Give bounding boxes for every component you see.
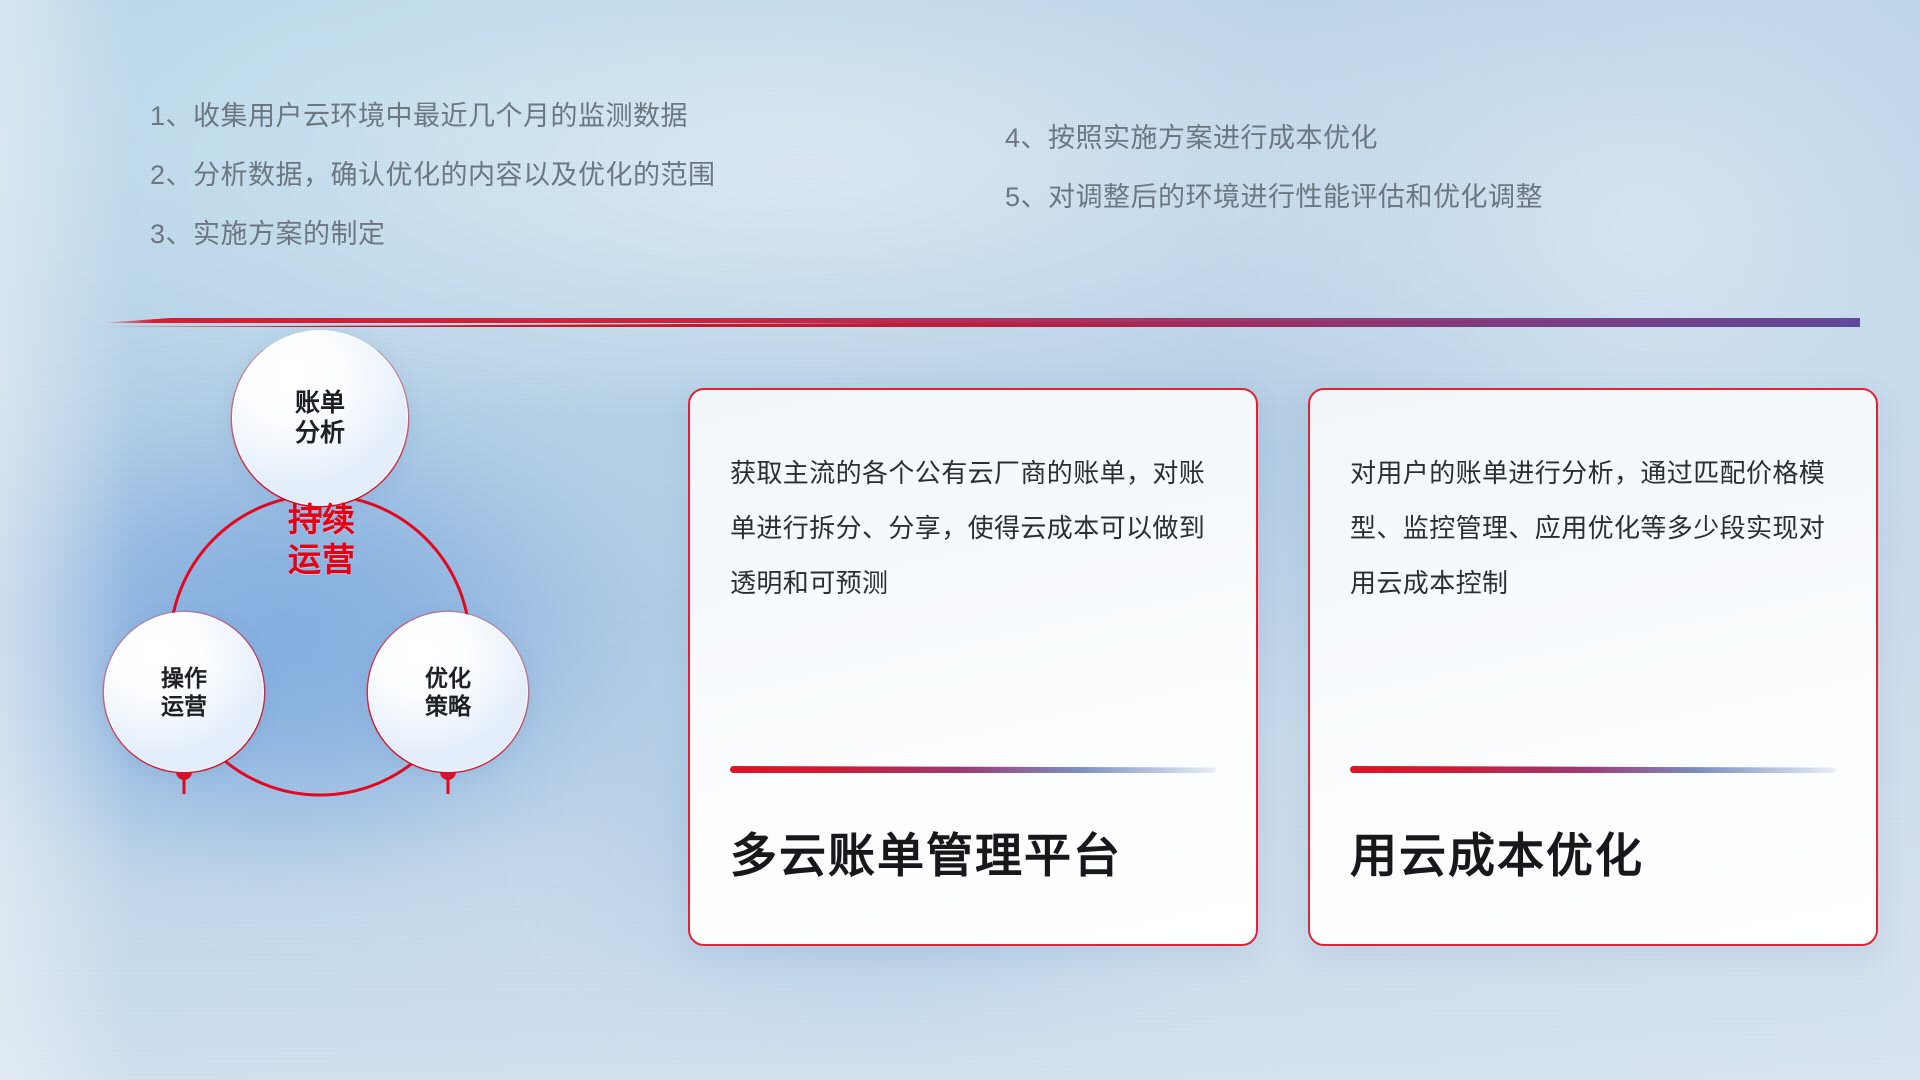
card-cloud-cost-optimization[interactable]: 对用户的账单进行分析，通过匹配价格模型、监控管理、应用优化等多少段实现对用云成本…: [1308, 388, 1878, 946]
bubble-label-line1: 操作: [161, 664, 207, 692]
step-item: 5、对调整后的环境进行性能评估和优化调整: [1005, 184, 1543, 211]
bubble-operations[interactable]: 操作 运营: [104, 612, 264, 772]
center-label-line2: 运营: [252, 540, 392, 580]
card-title: 多云账单管理平台: [730, 773, 1216, 944]
card-divider: [730, 766, 1216, 773]
step-item: 1、收集用户云环境中最近几个月的监测数据: [150, 103, 716, 130]
bubble-bill-analysis[interactable]: 账单 分析: [232, 330, 408, 506]
center-label-line1: 持续: [252, 500, 392, 540]
card-body: 获取主流的各个公有云厂商的账单，对账单进行拆分、分享，使得云成本可以做到透明和可…: [730, 446, 1216, 611]
card-body: 对用户的账单进行分析，通过匹配价格模型、监控管理、应用优化等多少段实现对用云成本…: [1350, 446, 1836, 611]
diagram-center-label: 持续 运营: [252, 500, 392, 581]
steps-list-right: 4、按照实施方案进行成本优化 5、对调整后的环境进行性能评估和优化调整: [1005, 125, 1543, 211]
bubble-label-line2: 分析: [295, 418, 345, 449]
section-divider: [100, 318, 1860, 327]
bubble-optimization-strategy[interactable]: 优化 策略: [368, 612, 528, 772]
bubble-label-line2: 运营: [161, 692, 207, 720]
step-item: 2、分析数据，确认优化的内容以及优化的范围: [150, 162, 716, 189]
slide-canvas: 1、收集用户云环境中最近几个月的监测数据 2、分析数据，确认优化的内容以及优化的…: [0, 0, 1920, 1080]
card-multicloud-billing[interactable]: 获取主流的各个公有云厂商的账单，对账单进行拆分、分享，使得云成本可以做到透明和可…: [688, 388, 1258, 946]
bubble-label-line1: 账单: [295, 388, 345, 419]
bubble-label-line2: 策略: [425, 692, 471, 720]
divider-bar-upper: [100, 318, 1860, 323]
card-divider: [1350, 766, 1836, 773]
continuous-operations-diagram: 账单 分析 操作 运营 优化 策略 持续 运营: [96, 350, 616, 950]
step-item: 4、按照实施方案进行成本优化: [1005, 125, 1543, 152]
steps-list-left: 1、收集用户云环境中最近几个月的监测数据 2、分析数据，确认优化的内容以及优化的…: [150, 103, 716, 248]
step-item: 3、实施方案的制定: [150, 221, 716, 248]
bubble-label-line1: 优化: [425, 664, 471, 692]
card-title: 用云成本优化: [1350, 773, 1836, 944]
